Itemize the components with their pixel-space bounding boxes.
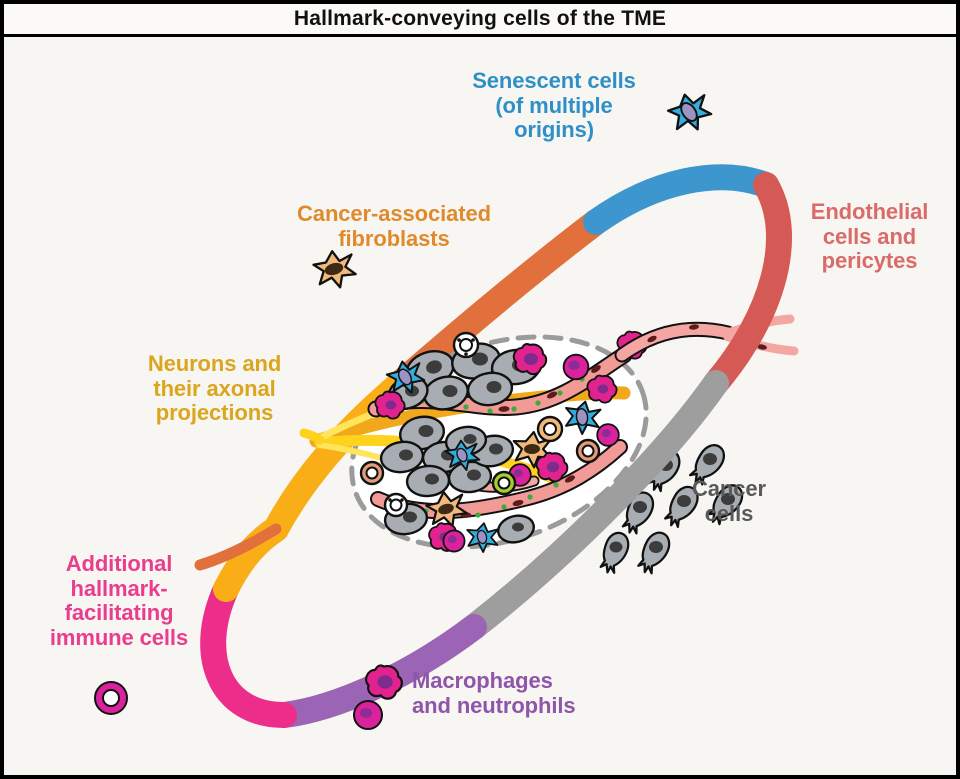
- page-title: Hallmark-conveying cells of the TME: [294, 7, 666, 31]
- immune-cell-ring-icon: [95, 682, 127, 714]
- macrophage-blob-icon: [366, 666, 402, 699]
- label-cancer-associated-fibroblasts: Cancer-associated fibroblasts: [259, 202, 529, 251]
- label-senescent-cells: Senescent cells (of multiple origins): [439, 69, 669, 143]
- label-macrophages-neutrophils: Macrophages and neutrophils: [412, 669, 627, 718]
- neutrophil-round-icon: [354, 701, 382, 729]
- figure-panel: Hallmark-conveying cells of the TME: [0, 0, 960, 779]
- label-endothelial-cells-pericytes: Endothelial cells and pericytes: [782, 200, 957, 274]
- figure-title-bar: Hallmark-conveying cells of the TME: [4, 4, 956, 37]
- label-additional-immune-cells: Additional hallmark- facilitating immune…: [14, 552, 224, 651]
- diagram-canvas: Senescent cells (of multiple origins) Ca…: [4, 37, 956, 775]
- label-neurons-axonal-projections: Neurons and their axonal projections: [112, 352, 317, 426]
- label-cancer-cells: Cancer cells: [664, 477, 794, 526]
